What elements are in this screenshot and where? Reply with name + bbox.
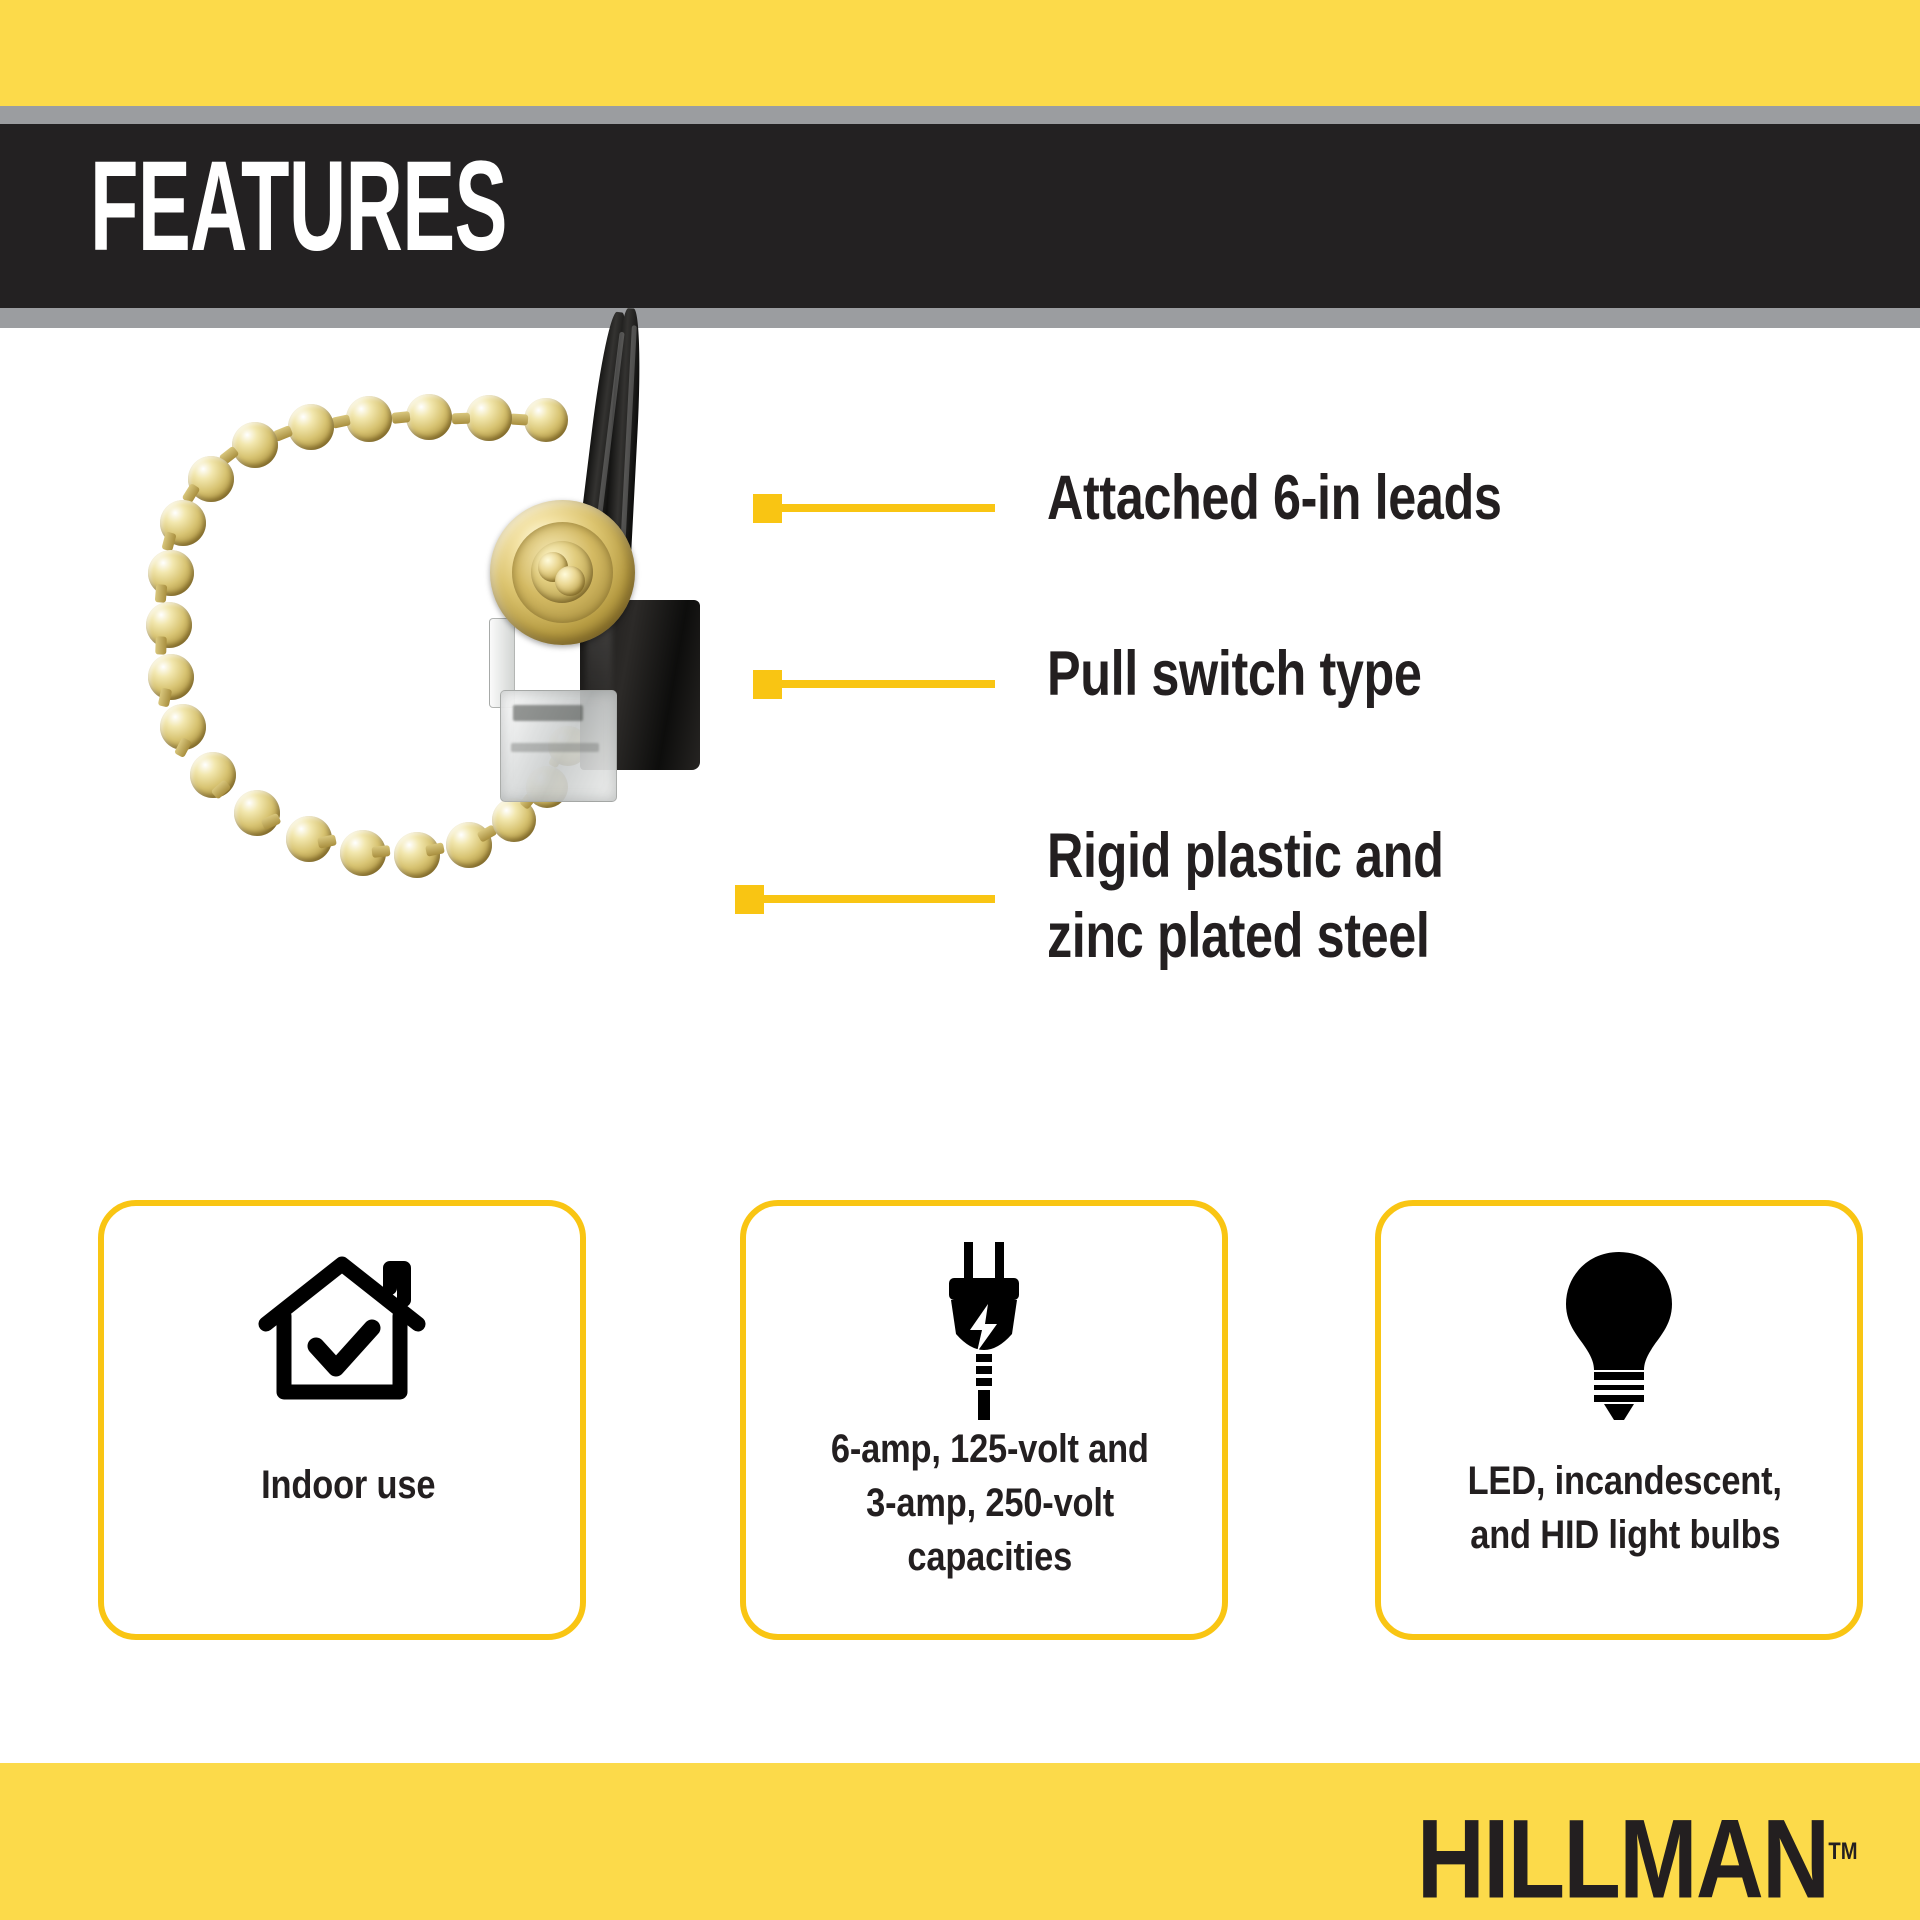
brand-logo-text: HILLMAN (1417, 1796, 1829, 1920)
header-bottom-rule (0, 308, 1920, 328)
card-label-1: Indoor use (132, 1458, 564, 1512)
trademark-symbol: TM (1829, 1838, 1858, 1865)
feature-card-bulbs[interactable]: LED, incandescent, and HID light bulbs (1375, 1200, 1863, 1640)
callout-label-leads: Attached 6-in leads (1047, 465, 1502, 531)
card-label-2-line2: 3-amp, 250-volt (866, 1476, 1114, 1530)
product-photo (140, 370, 780, 940)
card-label-3: LED, incandescent, and HID light bulbs (1409, 1454, 1841, 1562)
callout-label-material-line2: zinc plated steel (1047, 903, 1430, 969)
header-yellow-band (0, 0, 1920, 106)
infographic-page: FEATURES (0, 0, 1920, 1920)
card-label-2: 6-amp, 125-volt and 3-amp, 250-volt capa… (774, 1422, 1206, 1584)
callout-marker-material (735, 885, 764, 914)
card-label-2-line3: capacities (908, 1530, 1073, 1584)
card-icon-wrap-1 (104, 1242, 580, 1422)
callout-line-material (764, 895, 995, 903)
card-label-3-line1: LED, incandescent, (1468, 1454, 1782, 1508)
callout-marker-switch-type (753, 670, 782, 699)
callout-line-switch-type (782, 680, 995, 688)
card-label-2-line1: 6-amp, 125-volt and (831, 1422, 1149, 1476)
card-icon-wrap-2 (746, 1242, 1222, 1422)
power-plug-icon (924, 1242, 1044, 1422)
page-title: FEATURES (90, 143, 507, 271)
feature-card-capacities[interactable]: 6-amp, 125-volt and 3-amp, 250-volt capa… (740, 1200, 1228, 1640)
callout-marker-leads (753, 494, 782, 523)
card-icon-wrap-3 (1381, 1242, 1857, 1422)
header-top-rule (0, 106, 1920, 124)
card-label-1-line1: Indoor use (261, 1458, 435, 1512)
brass-chain-knot-b (555, 566, 585, 596)
clear-plastic-housing (500, 690, 617, 802)
card-label-3-line2: and HID light bulbs (1470, 1508, 1780, 1562)
light-bulb-icon (1554, 1246, 1684, 1421)
callout-label-switch-type: Pull switch type (1047, 641, 1421, 707)
feature-card-indoor-use[interactable]: Indoor use (98, 1200, 586, 1640)
brand-logo: HILLMANTM (1417, 1796, 1858, 1915)
callout-label-material-line1: Rigid plastic and (1047, 823, 1443, 889)
callout-line-leads (782, 504, 995, 512)
house-check-icon (252, 1250, 432, 1410)
